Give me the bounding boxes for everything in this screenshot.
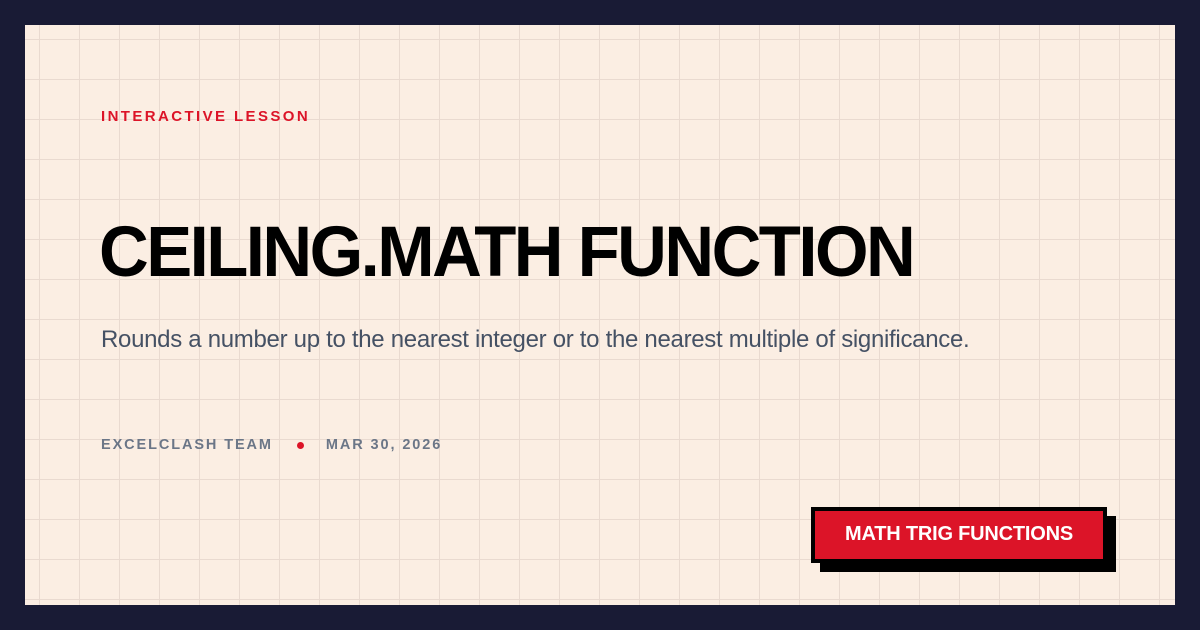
outer-frame: INTERACTIVE LESSON CEILING.MATH FUNCTION… [0, 0, 1200, 630]
bullet-dot-icon [297, 442, 304, 449]
hero-card: INTERACTIVE LESSON CEILING.MATH FUNCTION… [25, 25, 1175, 605]
category-badge-wrapper: MATH TRIG FUNCTIONS [811, 507, 1107, 563]
byline: EXCELCLASH TEAM MAR 30, 2026 [101, 438, 442, 453]
eyebrow-label: INTERACTIVE LESSON [101, 109, 310, 124]
category-badge[interactable]: MATH TRIG FUNCTIONS [811, 507, 1107, 563]
page-title: CEILING.MATH FUNCTION [99, 217, 1075, 288]
hero-content: INTERACTIVE LESSON CEILING.MATH FUNCTION… [25, 25, 1175, 605]
byline-date: MAR 30, 2026 [326, 438, 442, 453]
page-subtitle: Rounds a number up to the nearest intege… [101, 323, 1001, 357]
byline-author: EXCELCLASH TEAM [101, 438, 273, 453]
